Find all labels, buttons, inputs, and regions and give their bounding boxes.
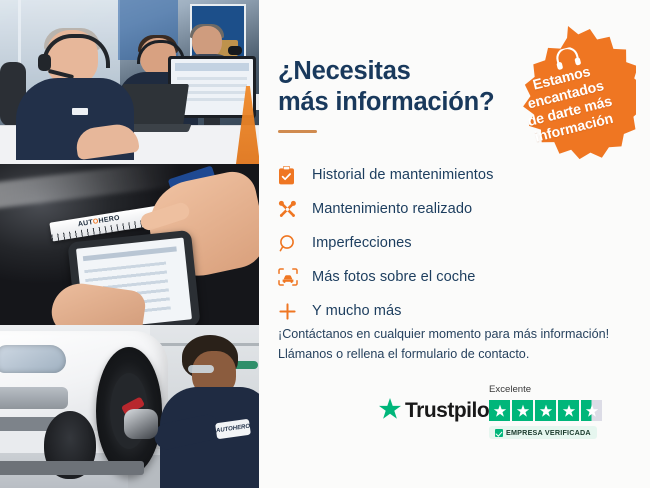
mechanic-wheel-inspection-photo: AUTOHERO <box>0 325 259 488</box>
title-underline-rule <box>278 130 317 133</box>
star-half-icon <box>581 400 602 421</box>
car-frame-icon <box>278 268 312 286</box>
trustpilot-star-icon <box>379 398 401 424</box>
mechanic-person-decor: AUTOHERO <box>160 335 259 488</box>
content-panel: ¿Necesitas más información? Estamos enca… <box>259 0 650 488</box>
page-title: ¿Necesitas más información? <box>278 56 528 118</box>
call-center-agents-photo <box>0 0 259 164</box>
plus-icon <box>278 302 312 321</box>
webcam-decor <box>228 46 242 55</box>
verified-check-icon <box>495 429 503 437</box>
contact-line-2: Llámanos o rellena el formulario de cont… <box>278 345 630 365</box>
star-filled-icon <box>512 400 533 421</box>
contact-text: ¡Contáctanos en cualquier momento para m… <box>278 325 630 364</box>
star-filled-icon <box>489 400 510 421</box>
feature-item-maintenance-history: Historial de mantenimientos <box>278 158 608 192</box>
headline-line-1: ¿Necesitas <box>278 56 528 87</box>
verified-label: EMPRESA VERIFICADA <box>506 428 591 437</box>
feature-item-much-more: Y mucho más <box>278 294 608 328</box>
contact-line-1: ¡Contáctanos en cualquier momento para m… <box>278 325 630 345</box>
feature-label: Historial de mantenimientos <box>312 167 493 183</box>
feature-label: Más fotos sobre el coche <box>312 269 475 285</box>
feature-label: Y mucho más <box>312 303 402 319</box>
promo-starburst-badge: Estamos encantados de darte más informac… <box>500 26 636 162</box>
crossed-tools-icon <box>278 200 312 219</box>
feature-list: Historial de mantenimientos <box>278 158 608 328</box>
car-inspection-ruler-photo: AUTOHERO <box>0 164 259 325</box>
feature-item-more-photos: Más fotos sobre el coche <box>278 260 608 294</box>
feature-item-imperfections: Imperfecciones <box>278 226 608 260</box>
trustpilot-wordmark: Trustpilot <box>405 399 496 423</box>
verified-company-badge: EMPRESA VERIFICADA <box>489 426 597 439</box>
star-filled-icon <box>535 400 556 421</box>
trustpilot-logo: Trustpilot <box>379 398 496 424</box>
car-lift-decor <box>0 461 144 475</box>
rating-label: Excelente <box>489 384 531 395</box>
photo-collage: AUTOHERO AUTOHERO <box>0 0 259 488</box>
feature-label: Imperfecciones <box>312 235 412 251</box>
work-glove-decor <box>124 409 158 439</box>
clipboard-check-icon <box>278 166 312 185</box>
star-filled-icon <box>558 400 579 421</box>
feature-item-maintenance-done: Mantenimiento realizado <box>278 192 608 226</box>
foreground-agent-decor <box>16 30 134 130</box>
trustpilot-rating-block: Trustpilot Excelente <box>379 386 629 448</box>
feature-label: Mantenimiento realizado <box>312 201 472 217</box>
information-banner: AUTOHERO AUTOHERO <box>0 0 650 488</box>
headline-line-2: más información? <box>278 87 528 118</box>
magnifier-icon <box>278 234 312 253</box>
star-rating <box>489 400 602 421</box>
